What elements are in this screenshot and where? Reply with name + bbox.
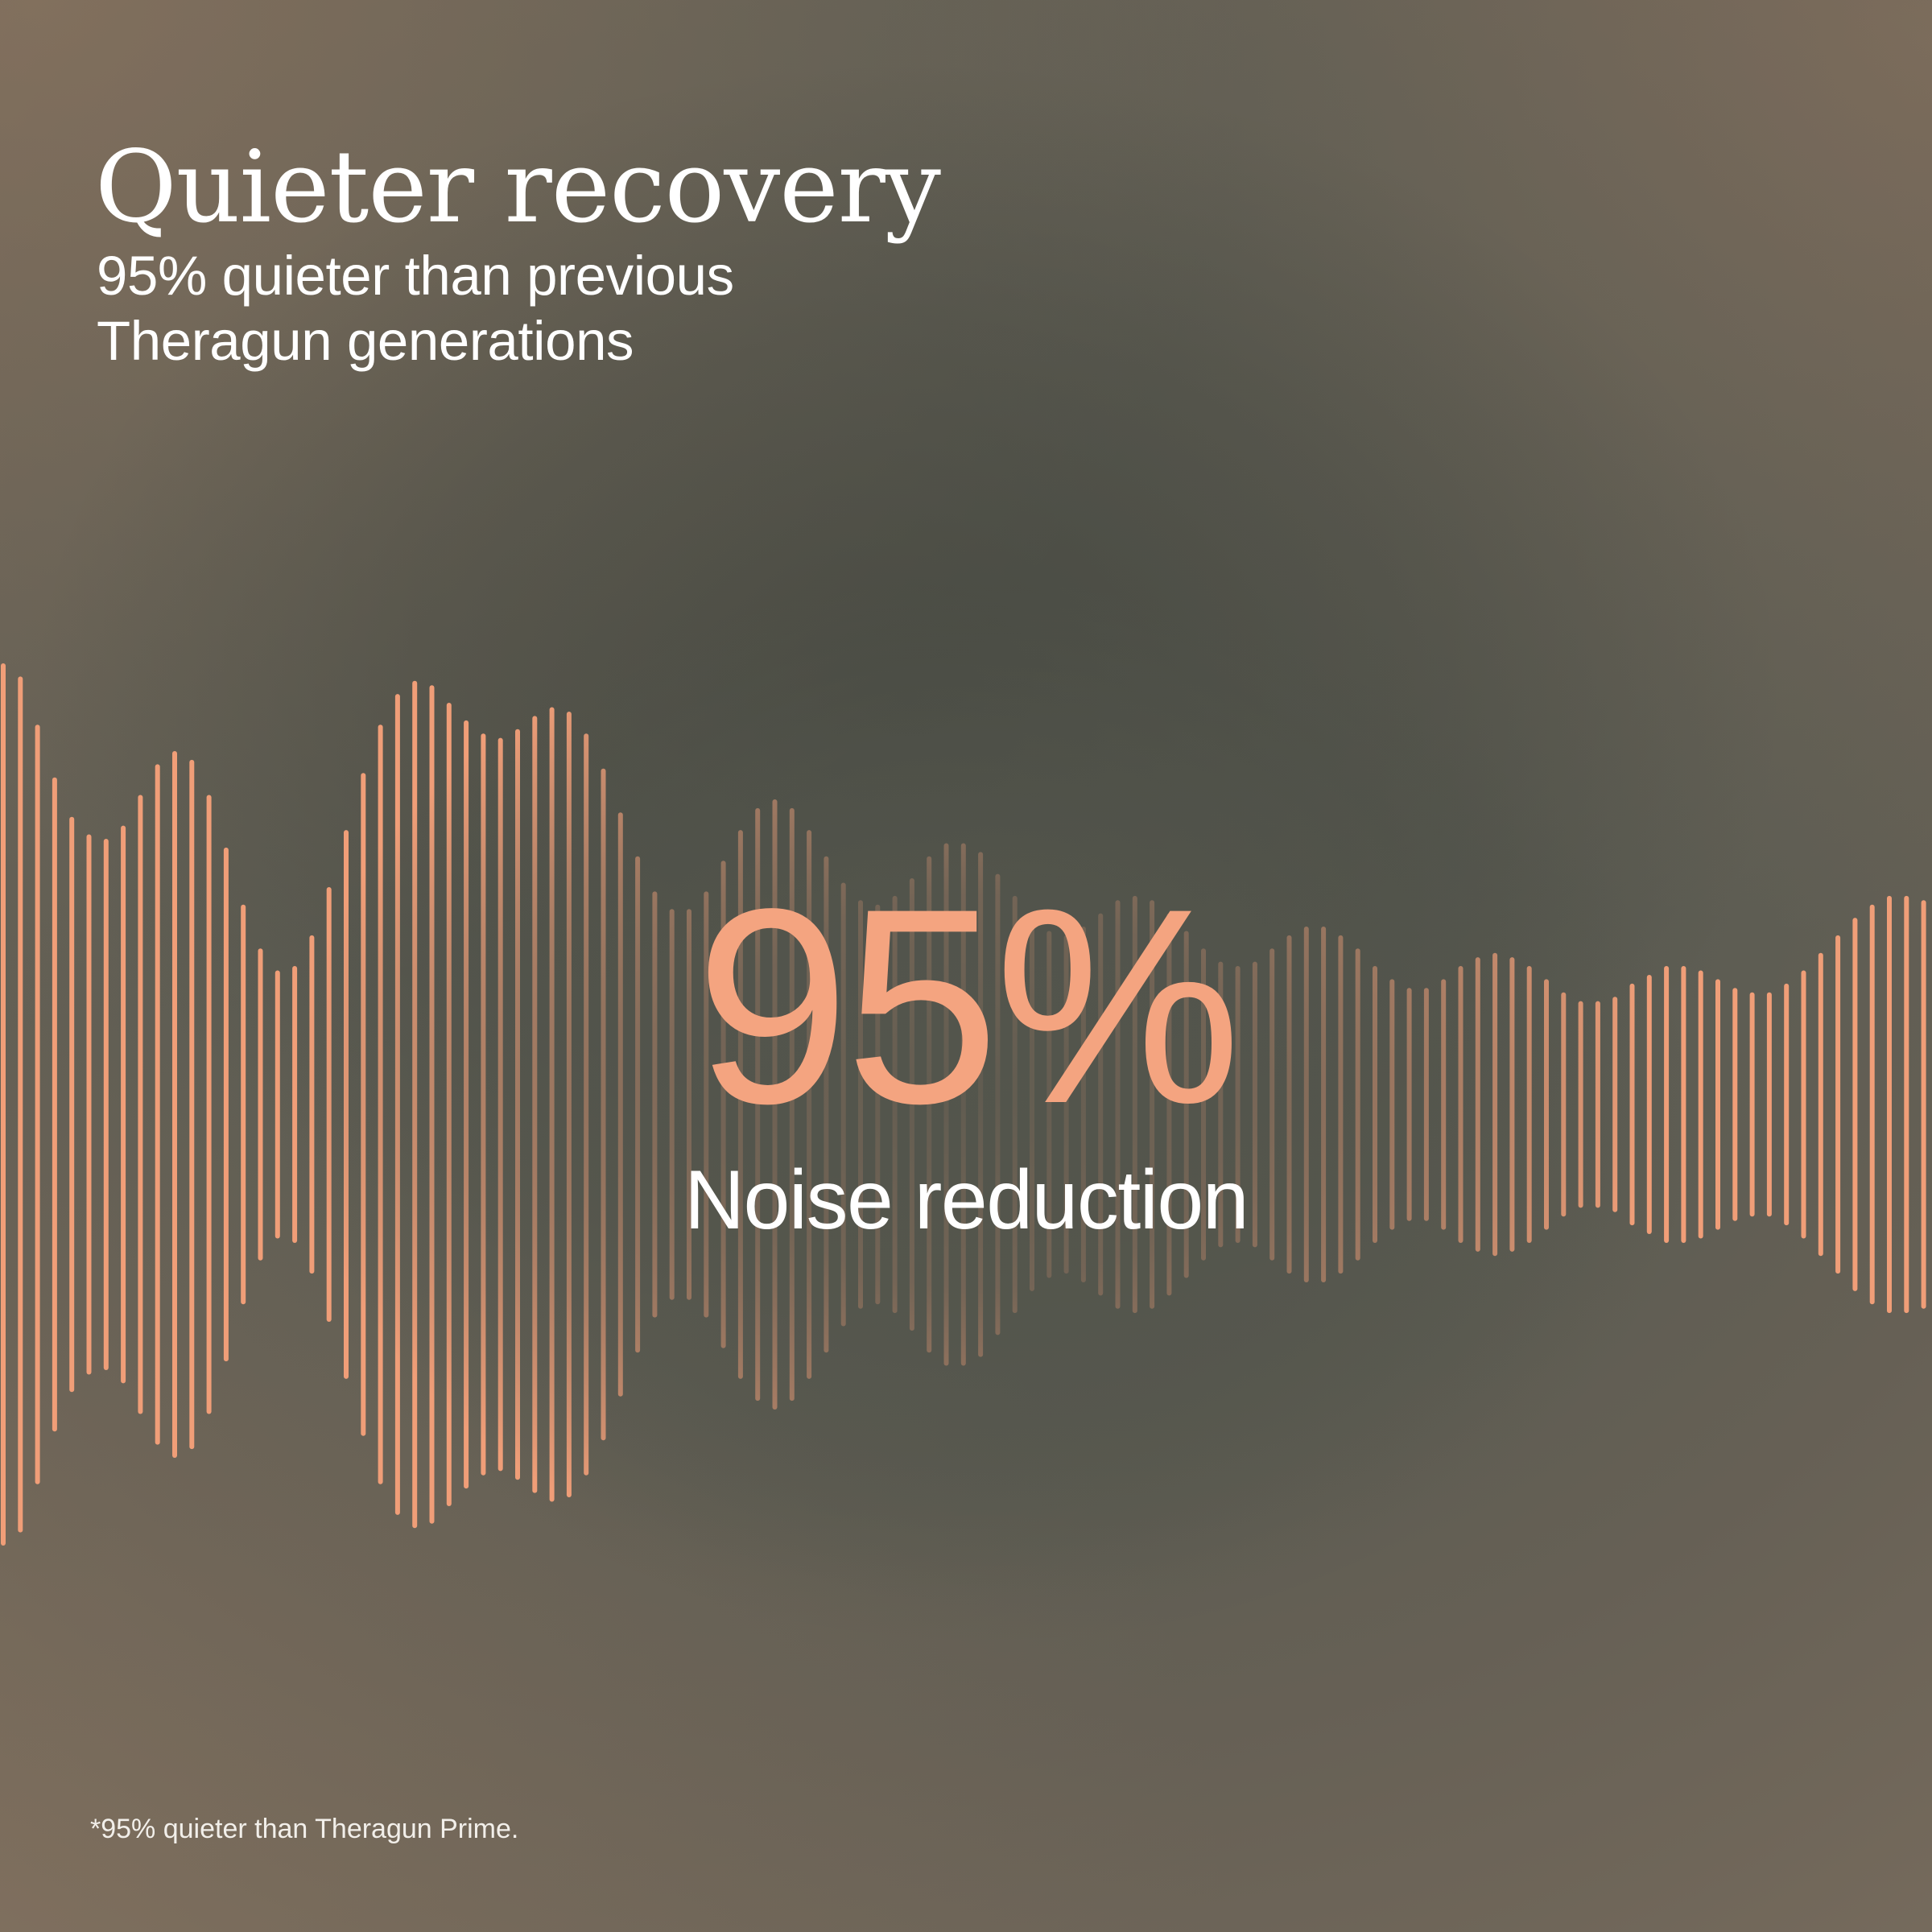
poster-canvas: Quieter recovery 95% quieter than previo… (0, 0, 1932, 1932)
footnote: *95% quieter than Theragun Prime. (90, 1813, 518, 1846)
subtitle-line-2: Theragun generations (97, 308, 734, 374)
page-title: Quieter recovery (95, 138, 940, 237)
subtitle-line-1: 95% quieter than previous (97, 243, 734, 308)
subtitle: 95% quieter than previous Theragun gener… (97, 243, 734, 374)
